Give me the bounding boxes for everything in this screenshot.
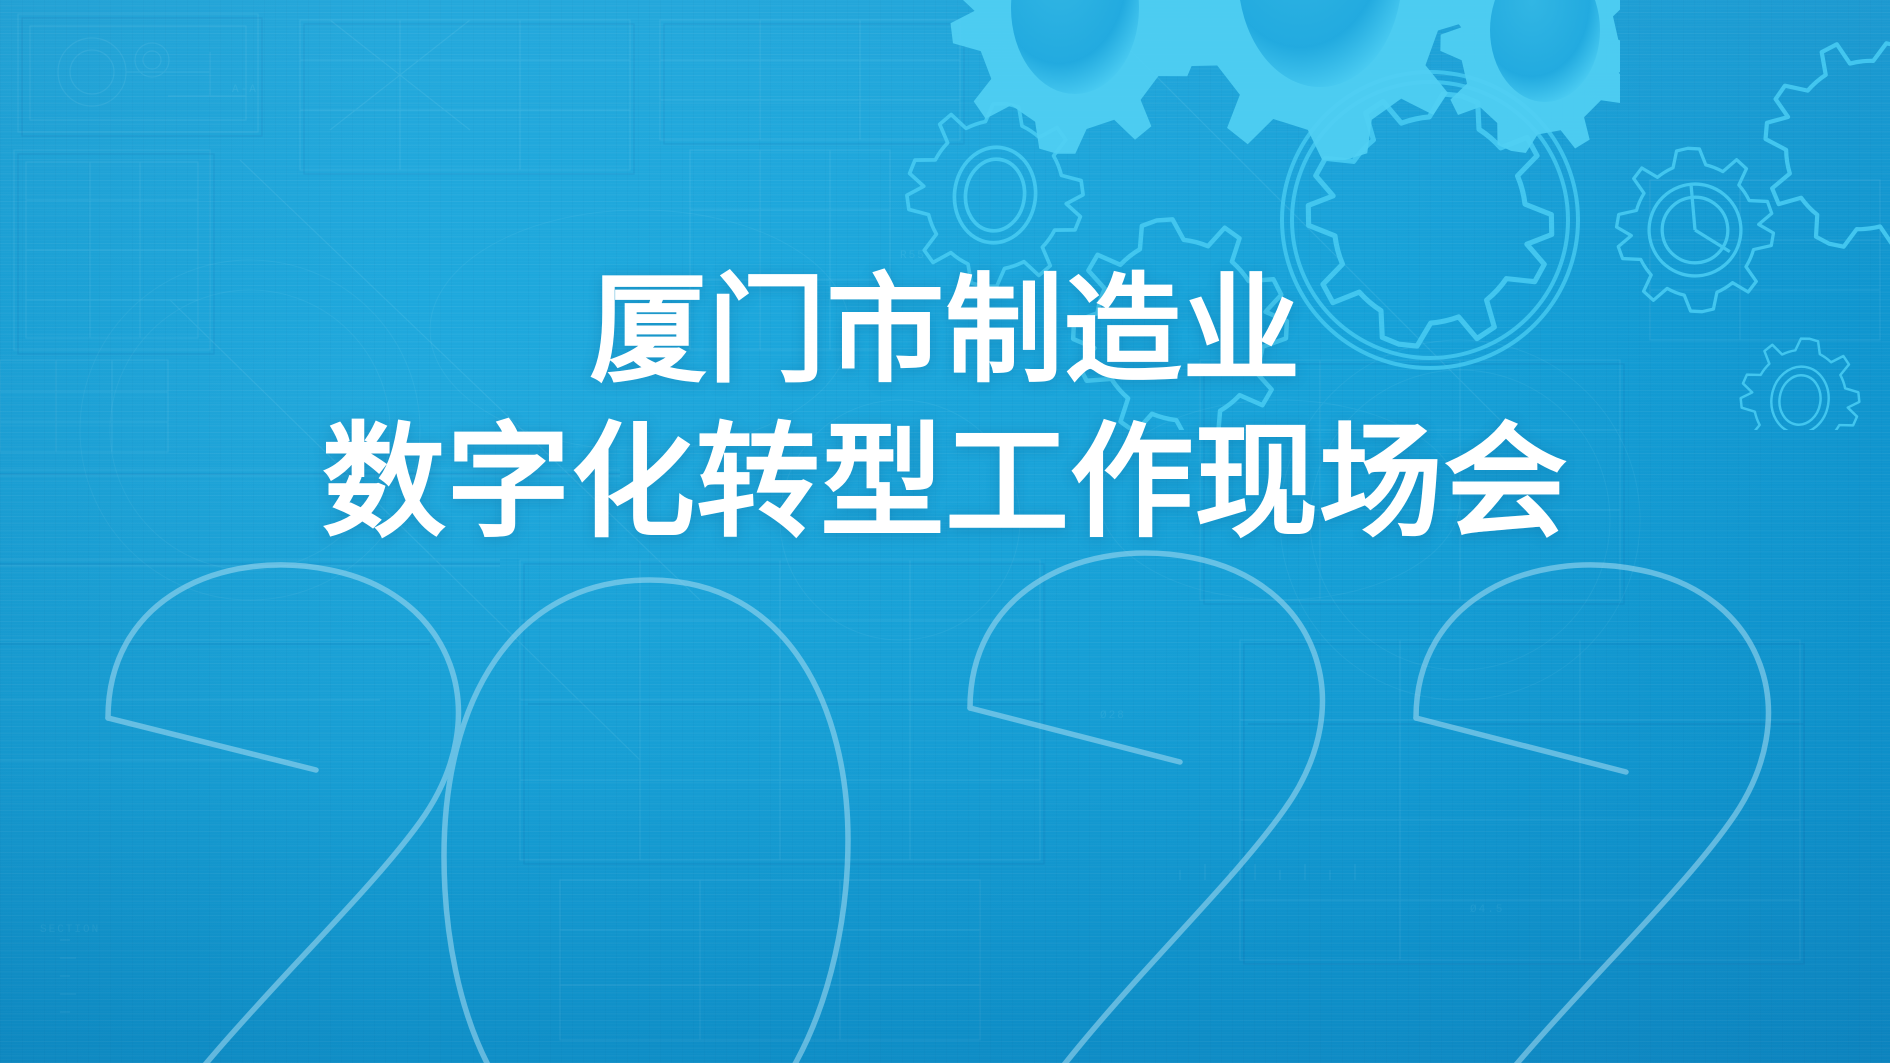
poster-canvas: A-A R55 Ø28 SECTION Ø4.5 xyxy=(0,0,1890,1063)
poster-title-line-2: 数字化转型工作现场会 xyxy=(0,420,1890,546)
year-outline-2022 xyxy=(0,470,1890,1063)
poster-title-line-1: 厦门市制造业 xyxy=(0,271,1890,391)
gears-solid-svg xyxy=(900,0,1620,310)
poster-title: 厦门市制造业数字化转型工作现场会 厦门市制造业 数字化转型工作现场会 xyxy=(0,271,1890,546)
year-outline-svg xyxy=(0,470,1890,1063)
gear-cluster-solid xyxy=(900,0,1620,310)
